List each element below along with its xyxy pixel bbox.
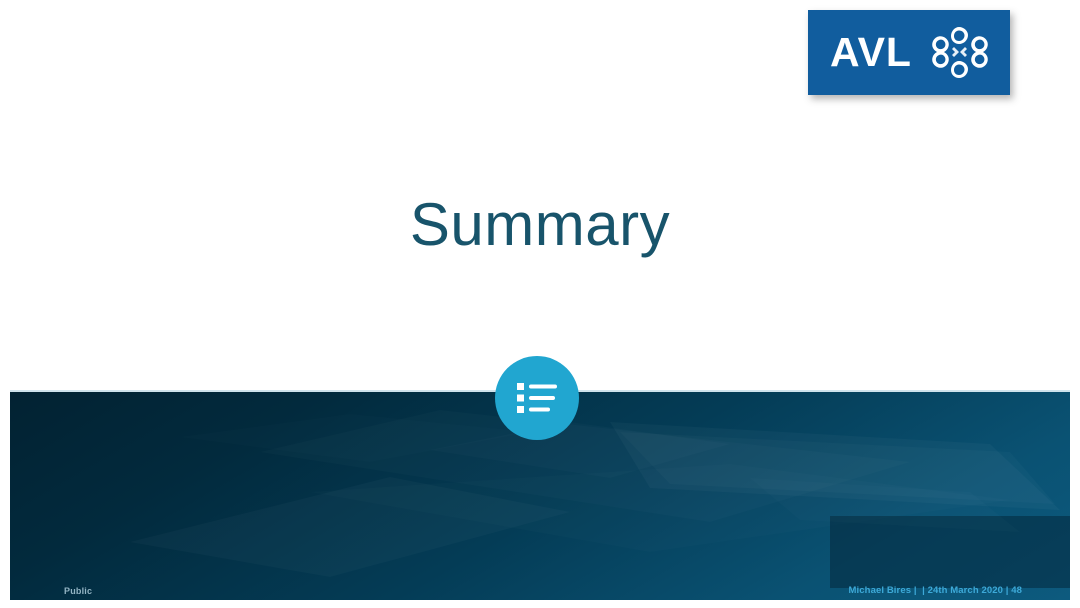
avl-logo-text: AVL [830,32,912,73]
summary-list-icon-badge[interactable] [495,356,579,440]
page-title: Summary [0,190,1080,259]
avl-logo[interactable]: AVL [808,10,1010,95]
footer-classification: Public [64,586,92,596]
footer-meta: Michael Bires | | 24th March 2020 | 48 [849,585,1022,596]
avl-pinwheel-emblem-icon [930,25,990,80]
bulleted-list-icon [516,381,558,415]
slide-canvas: AVL Summary [0,0,1080,608]
